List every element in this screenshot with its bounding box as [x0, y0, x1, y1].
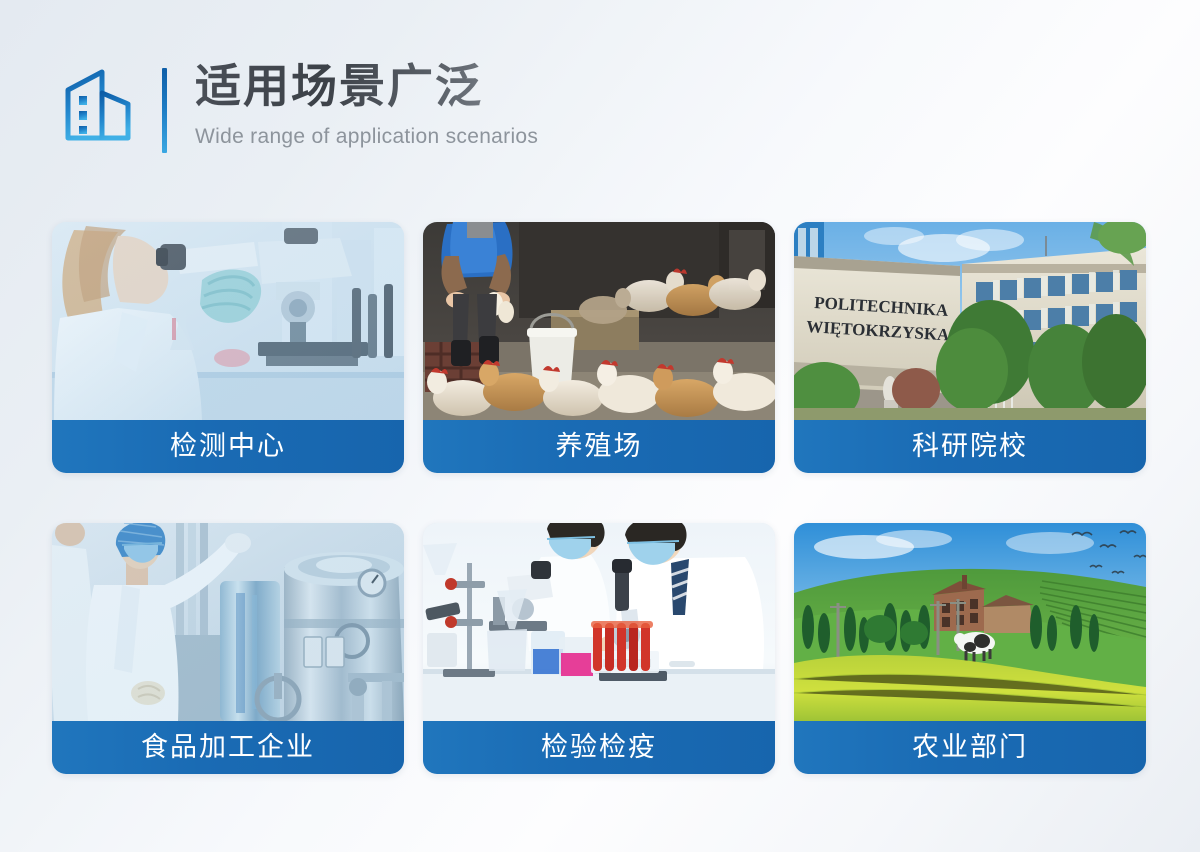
scenario-card[interactable]: 养殖场: [423, 222, 775, 473]
page-subtitle: Wide range of application scenarios: [195, 125, 538, 149]
scenario-card[interactable]: 农业部门: [794, 523, 1146, 774]
scenario-card-label: 检验检疫: [541, 734, 657, 761]
food-processing-plant-photo: [52, 523, 404, 721]
scenario-card-grid: 检测中心: [52, 222, 1146, 774]
poultry-farm-photo: [423, 222, 775, 420]
scenario-card-caption: 养殖场: [423, 420, 775, 473]
scenario-card-label: 食品加工企业: [141, 734, 315, 761]
scenario-card-label: 农业部门: [912, 734, 1028, 761]
scenario-card[interactable]: 检测中心: [52, 222, 404, 473]
scenario-card[interactable]: POLITECHNIKA WIĘTOKRZYSKA syer.com: [794, 222, 1146, 473]
header-divider: [162, 68, 167, 153]
university-campus-photo: POLITECHNIKA WIĘTOKRZYSKA syer.com: [794, 222, 1146, 420]
section-header: 适用场景广泛 Wide range of application scenari…: [62, 58, 538, 153]
scenario-card[interactable]: 食品加工企业: [52, 523, 404, 774]
office-building-icon: [62, 66, 134, 144]
scenario-card-caption: 检验检疫: [423, 721, 775, 774]
inspection-quarantine-lab-photo: [423, 523, 775, 721]
scenario-card-caption: 农业部门: [794, 721, 1146, 774]
scenario-card-caption: 检测中心: [52, 420, 404, 473]
agriculture-farmland-photo: [794, 523, 1146, 721]
scenario-card-caption: 食品加工企业: [52, 721, 404, 774]
header-text-block: 适用场景广泛 Wide range of application scenari…: [195, 58, 538, 149]
scenario-card-label: 科研院校: [912, 433, 1028, 460]
scenario-card-label: 养殖场: [556, 433, 643, 460]
lab-microscope-scientist-photo: [52, 222, 404, 420]
page-title: 适用场景广泛: [195, 58, 538, 116]
scenario-card-caption: 科研院校: [794, 420, 1146, 473]
scenario-card[interactable]: 检验检疫: [423, 523, 775, 774]
scenario-card-label: 检测中心: [170, 433, 286, 460]
